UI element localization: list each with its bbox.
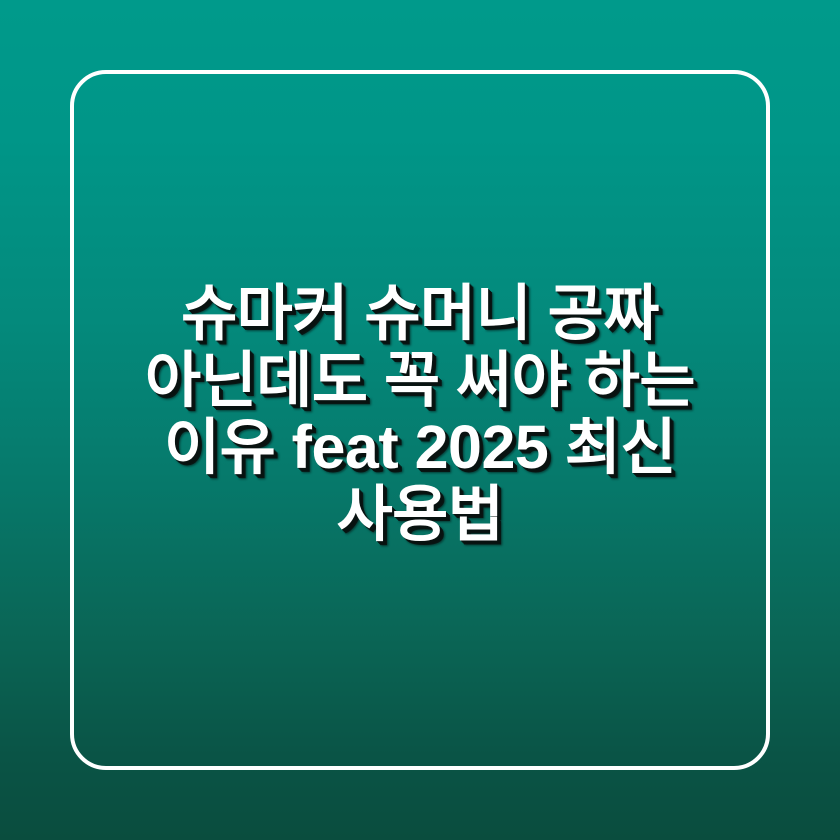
- headline-container: 슈마커 슈머니 공짜 아닌데도 꼭 써야 하는 이유 feat 2025 최신 …: [70, 70, 770, 770]
- headline-line-4: 사용법: [104, 481, 736, 548]
- headline-title: 슈마커 슈머니 공짜 아닌데도 꼭 써야 하는 이유 feat 2025 최신 …: [104, 280, 736, 548]
- thumbnail-card: 슈마커 슈머니 공짜 아닌데도 꼭 써야 하는 이유 feat 2025 최신 …: [0, 0, 840, 840]
- headline-line-3: 이유 feat 2025 최신: [104, 414, 736, 481]
- headline-line-1: 슈마커 슈머니 공짜: [104, 280, 736, 347]
- headline-line-2: 아닌데도 꼭 써야 하는: [104, 347, 736, 414]
